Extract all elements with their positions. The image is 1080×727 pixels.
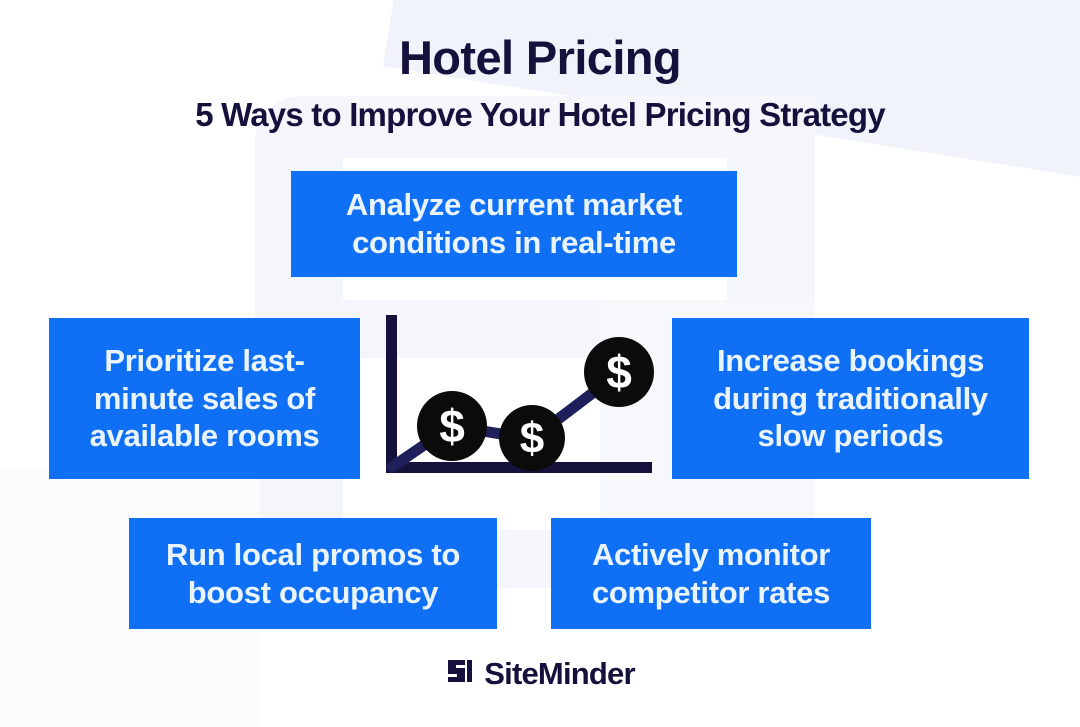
page-title: Hotel Pricing [0, 32, 1080, 84]
dollar-coin-marker-1: $ [417, 391, 487, 461]
siteminder-logo-icon [445, 656, 475, 691]
svg-text:$: $ [520, 414, 544, 463]
page-subtitle: 5 Ways to Improve Your Hotel Pricing Str… [0, 95, 1080, 135]
siteminder-wordmark: SiteMinder [484, 658, 634, 689]
tip-label-last-minute-sales: Prioritize last-minute sales of availabl… [59, 342, 350, 455]
tip-label-local-promos: Run local promos to boost occupancy [141, 536, 485, 612]
svg-text:$: $ [606, 346, 632, 398]
tip-label-competitor-rates: Actively monitor competitor rates [563, 536, 859, 612]
dollar-coin-marker-2: $ [499, 405, 565, 471]
tip-box-analyze-market: Analyze current market conditions in rea… [291, 171, 737, 277]
tip-box-competitor-rates: Actively monitor competitor rates [551, 518, 871, 629]
line-chart-graphic: $ $ $ [380, 310, 660, 485]
tip-label-increase-bookings: Increase bookings during traditionally s… [680, 342, 1021, 455]
tip-label-analyze-market: Analyze current market conditions in rea… [305, 186, 723, 262]
infographic-canvas: Hotel Pricing 5 Ways to Improve Your Hot… [0, 0, 1080, 727]
watermark-diagonal-band [383, 0, 1080, 185]
tip-box-increase-bookings: Increase bookings during traditionally s… [672, 318, 1029, 479]
dollar-coin-marker-3: $ [584, 337, 654, 407]
svg-text:$: $ [439, 400, 465, 452]
tip-box-local-promos: Run local promos to boost occupancy [129, 518, 497, 629]
site-logo: SiteMinder [0, 656, 1080, 691]
tip-box-last-minute-sales: Prioritize last-minute sales of availabl… [49, 318, 360, 479]
